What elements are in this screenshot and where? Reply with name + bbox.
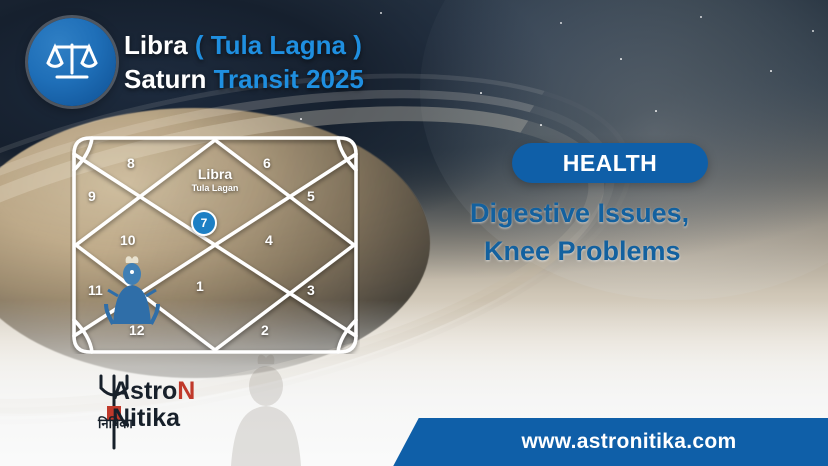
planet-house-badge: 7 [191,210,217,236]
title-planet-name: Saturn [124,64,206,94]
website-url[interactable]: www.astronitika.com [522,430,737,454]
shiva-deity-icon [104,254,160,330]
title-zodiac-name: Libra [124,30,188,60]
health-issue-line-2: Knee Problems [484,236,681,267]
house-number-4: 4 [265,232,273,248]
house-number-3: 3 [307,282,315,298]
health-badge-label: HEALTH [563,150,658,177]
house-number-8: 8 [127,155,135,171]
house-number-11: 11 [88,282,103,298]
brand-hindi-text: नितिका [98,414,133,432]
chart-sign-sanskrit: Tula Lagan [192,182,239,194]
chart-center-label: Libra Tula Lagan [192,166,239,194]
house-number-1: 1 [196,278,204,294]
brand-accent-letter: N [177,377,195,405]
poster-canvas: Libra ( Tula Lagna ) Saturn Transit 2025 [0,0,828,466]
libra-emblem [28,18,116,106]
health-badge: HEALTH [512,143,708,183]
health-issue-line-1: Digestive Issues, [470,198,689,229]
libra-scales-icon [43,33,101,91]
house-number-10: 10 [120,232,136,248]
house-number-2: 2 [261,322,269,338]
house-number-9: 9 [88,188,96,204]
chart-sign-name: Libra [192,166,239,182]
poster-title: Libra ( Tula Lagna ) Saturn Transit 2025 [124,28,554,96]
house-number-6: 6 [263,155,271,171]
brand-line-1: Astro [112,377,177,405]
vedic-chart: 8 6 9 5 10 4 11 3 1 12 2 Libra Tula Laga… [70,136,360,354]
url-banner[interactable]: www.astronitika.com [430,418,828,466]
house-number-5: 5 [307,188,315,204]
title-transit-year: Transit 2025 [214,64,364,94]
title-zodiac-sanskrit: ( Tula Lagna ) [195,30,362,60]
